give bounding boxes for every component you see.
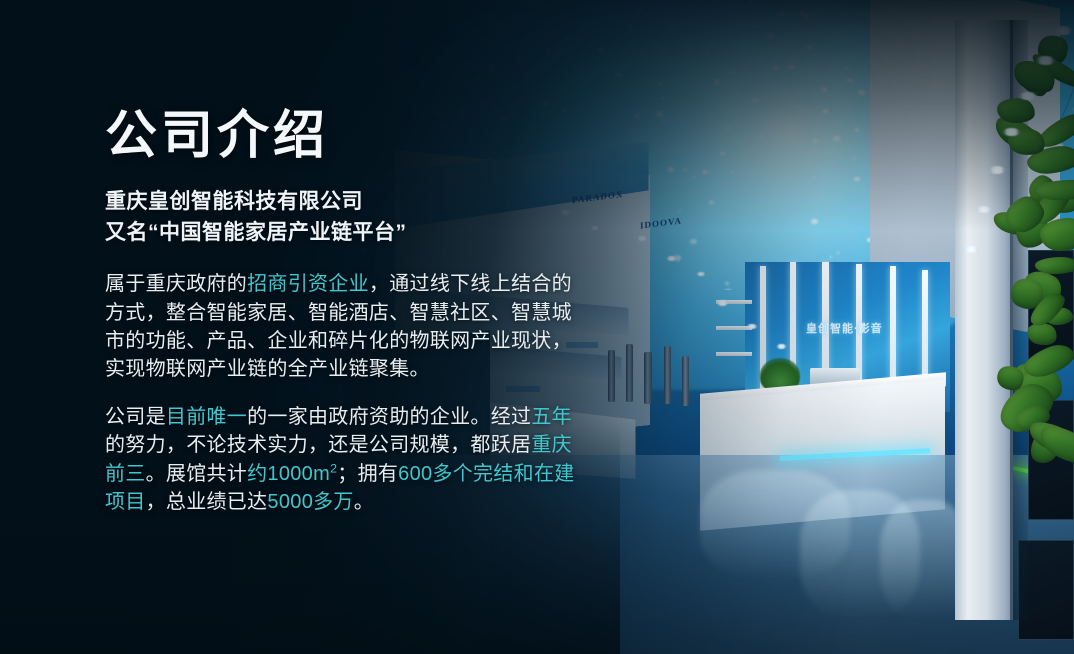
highlighted-text: 目前唯一 — [166, 406, 247, 428]
highlighted-text: 招商引资企业 — [247, 273, 369, 295]
body-text: 属于重庆政府的 — [105, 273, 247, 295]
company-subtitle: 重庆皇创智能科技有限公司 又名“中国智能家居产业链平台” — [105, 186, 585, 248]
highlighted-text: 五年 — [531, 406, 572, 428]
company-intro-slide: PARADOX IDOOVA 皇创智能·影音 — [0, 0, 1074, 654]
subtitle-line-2: 又名“中国智能家居产业链平台” — [105, 217, 585, 248]
page-title: 公司介绍 — [105, 108, 585, 164]
body-text: 。展馆共计 — [146, 463, 248, 485]
body-text: 的一家由政府资助的企业。经过 — [247, 406, 531, 428]
text-content-block: 公司介绍 重庆皇创智能科技有限公司 又名“中国智能家居产业链平台” 属于重庆政府… — [105, 108, 585, 516]
paragraph-2: 公司是目前唯一的一家由政府资助的企业。经过五年的努力，不论技术实力，还是公司规模… — [105, 403, 585, 517]
highlighted-text: 5000多万 — [267, 491, 353, 513]
paragraph-1: 属于重庆政府的招商引资企业，通过线下线上结合的方式，整合智能家居、智能酒店、智慧… — [105, 270, 585, 384]
highlighted-text: 约1000m2 — [247, 463, 337, 485]
subtitle-line-1: 重庆皇创智能科技有限公司 — [105, 186, 585, 217]
body-text: ，总业绩已达 — [146, 491, 268, 513]
body-text: 的努力，不论技术实力，还是公司规模，都跃居 — [105, 434, 531, 456]
body-text: 。 — [354, 491, 374, 513]
body-text: 公司是 — [105, 406, 166, 428]
body-text: ；拥有 — [337, 463, 398, 485]
